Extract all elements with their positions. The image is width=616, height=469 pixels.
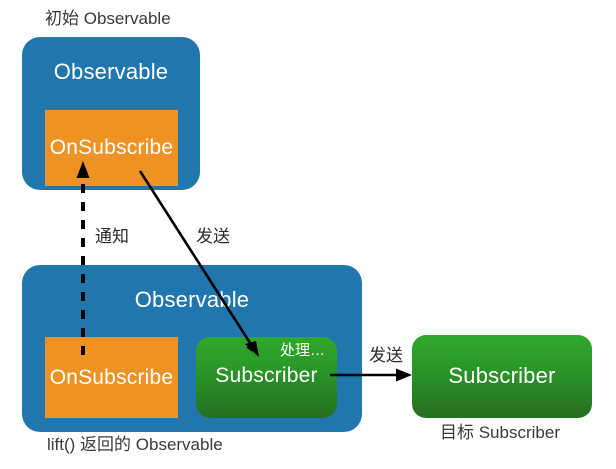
send-horizontal-edge-label: 发送: [369, 346, 403, 366]
send-diagonal-edge-label: 发送: [196, 227, 230, 247]
lift-observable-label: Observable: [22, 288, 362, 312]
target-subscriber-caption: 目标 Subscriber: [440, 423, 560, 443]
top-observable-label: Observable: [22, 60, 200, 84]
top-observable-caption: 初始 Observable: [45, 9, 171, 29]
notify-edge-label: 通知: [95, 227, 129, 247]
lift-observable-caption: lift() 返回的 Observable: [47, 435, 223, 455]
lift-subscriber-label: Subscriber: [196, 364, 337, 388]
target-subscriber-label: Subscriber: [412, 364, 592, 388]
top-onsubscribe-label: OnSubscribe: [45, 136, 178, 160]
lift-onsubscribe-label: OnSubscribe: [45, 366, 178, 390]
process-label: 处理…: [280, 341, 325, 361]
diagram-canvas: 初始 Observable Observable OnSubscribe Obs…: [0, 0, 616, 469]
